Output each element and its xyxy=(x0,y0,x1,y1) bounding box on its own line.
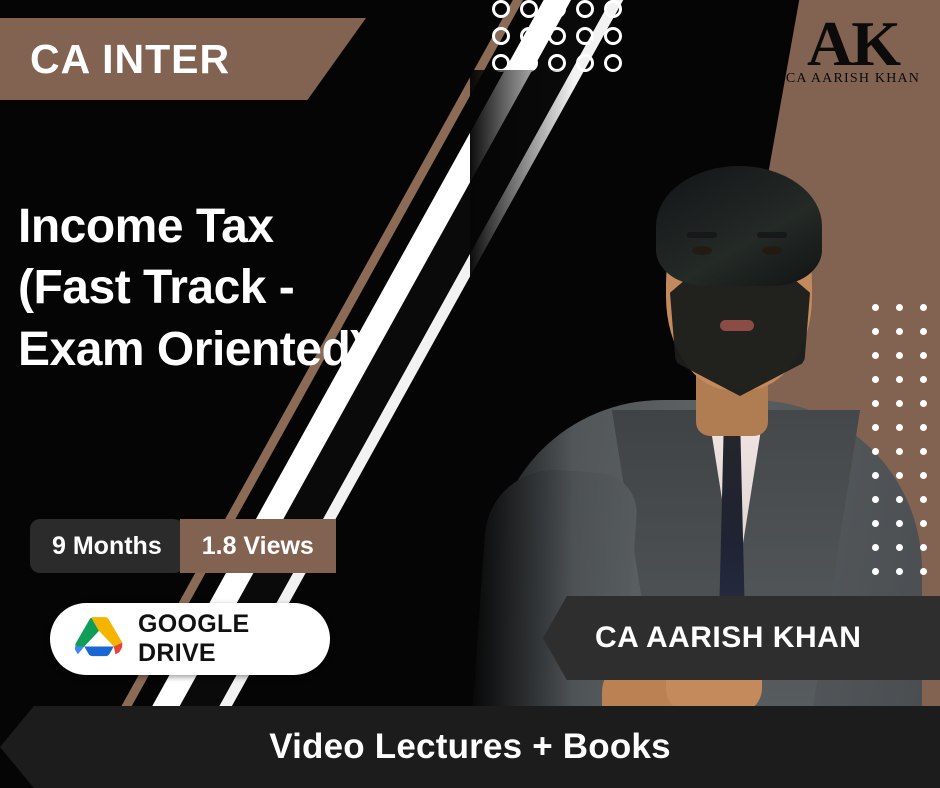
brand-logo-monogram: AK xyxy=(807,14,899,75)
filled-dot xyxy=(872,328,879,335)
ring-dot xyxy=(492,27,510,45)
filled-dot xyxy=(920,352,927,359)
filled-dot xyxy=(872,520,879,527)
course-title-line-2: (Fast Track - xyxy=(18,257,488,318)
ring-dot xyxy=(520,0,538,18)
filled-dot xyxy=(920,304,927,311)
filled-dot xyxy=(872,448,879,455)
ring-dot xyxy=(548,0,566,18)
filled-dot xyxy=(920,424,927,431)
brand-logo-subtitle: CA AARISH KHAN xyxy=(786,71,920,87)
filled-dot xyxy=(896,472,903,479)
course-level-ribbon: CA INTER xyxy=(0,18,366,100)
ring-dot xyxy=(604,0,622,18)
google-drive-icon xyxy=(74,616,124,662)
filled-dot xyxy=(920,520,927,527)
filled-dot xyxy=(896,544,903,551)
brand-logo: AK CA AARISH KHAN xyxy=(782,14,924,106)
filled-dot xyxy=(872,304,879,311)
filled-dot xyxy=(896,304,903,311)
filled-dot xyxy=(872,376,879,383)
filled-dot-grid xyxy=(864,296,936,584)
filled-dot xyxy=(920,328,927,335)
duration-badge: 9 Months xyxy=(30,519,184,573)
ring-dot xyxy=(492,0,510,18)
filled-dot xyxy=(896,376,903,383)
course-level-label: CA INTER xyxy=(0,39,230,80)
filled-dot xyxy=(920,376,927,383)
filled-dot xyxy=(872,568,879,575)
google-drive-badge[interactable]: GOOGLE DRIVE xyxy=(50,603,330,675)
filled-dot xyxy=(872,400,879,407)
filled-dot xyxy=(920,400,927,407)
ring-dot xyxy=(548,27,566,45)
google-drive-label: GOOGLE DRIVE xyxy=(138,610,306,668)
faculty-name-label: CA AARISH KHAN xyxy=(543,621,861,655)
filled-dot xyxy=(872,472,879,479)
filled-dot xyxy=(896,448,903,455)
course-poster: AK CA AARISH KHAN CA INTER Income Tax (F… xyxy=(0,0,940,788)
course-title-line-3: Exam Oriented) xyxy=(18,319,488,380)
filled-dot xyxy=(872,424,879,431)
filled-dot xyxy=(920,472,927,479)
faculty-name-banner: CA AARISH KHAN xyxy=(543,596,940,680)
footer-label: Video Lectures + Books xyxy=(269,727,671,767)
filled-dot xyxy=(896,352,903,359)
ring-dot-grid xyxy=(492,0,628,79)
filled-dot xyxy=(872,352,879,359)
filled-dot xyxy=(896,496,903,503)
course-meta-pills: 9 Months 1.8 Views xyxy=(30,519,336,573)
filled-dot xyxy=(872,496,879,503)
ring-dot xyxy=(604,27,622,45)
filled-dot xyxy=(896,568,903,575)
filled-dot xyxy=(872,544,879,551)
filled-dot xyxy=(920,544,927,551)
filled-dot xyxy=(896,424,903,431)
footer-banner: Video Lectures + Books xyxy=(0,706,940,788)
views-badge: 1.8 Views xyxy=(180,519,336,573)
filled-dot xyxy=(896,328,903,335)
ring-dot xyxy=(520,27,538,45)
course-title-line-1: Income Tax xyxy=(18,196,488,257)
ring-dot xyxy=(576,0,594,18)
ring-dot xyxy=(576,27,594,45)
filled-dot xyxy=(896,520,903,527)
filled-dot xyxy=(920,448,927,455)
filled-dot xyxy=(896,400,903,407)
filled-dot xyxy=(920,496,927,503)
course-title: Income Tax (Fast Track - Exam Oriented) xyxy=(18,196,488,380)
filled-dot xyxy=(920,568,927,575)
